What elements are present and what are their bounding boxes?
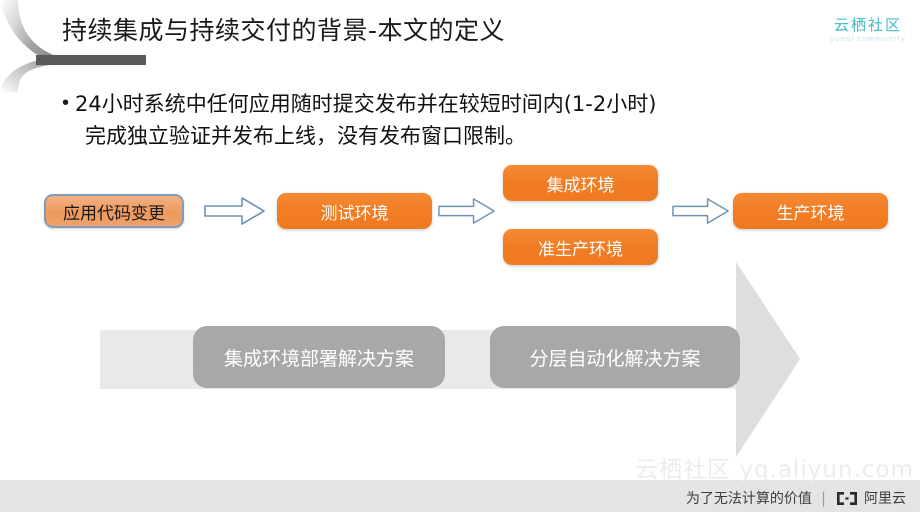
bullet-line-2: 完成独立验证并发布上线，没有发布窗口限制。 [75, 120, 656, 152]
pipeline-stage-test-env[interactable]: 测试环境 [277, 193, 432, 229]
brand-logo-name: 云栖社区 [830, 18, 906, 33]
bullet-text: 24小时系统中任何应用随时提交发布并在较短时间内(1-2小时) 完成独立验证并发… [75, 88, 656, 152]
solution-box-layered-automation[interactable]: 分层自动化解决方案 [490, 326, 740, 388]
pipeline-stage-label: 应用代码变更 [63, 199, 165, 224]
footer-divider: | [821, 489, 826, 507]
footer-slogan: 为了无法计算的价值 [686, 488, 812, 508]
arrow-right-icon-1 [204, 196, 266, 226]
footer-watermark: 云栖社区 yq.aliyun.com [635, 450, 914, 484]
pipeline-stage-app-code-change[interactable]: 应用代码变更 [44, 194, 184, 228]
slide-canvas: 持续集成与持续交付的背景-本文的定义 云栖社区 yunqi community … [0, 0, 920, 512]
pipeline-stage-label: 测试环境 [321, 199, 389, 224]
pipeline-stage-label: 生产环境 [777, 199, 845, 224]
aliyun-bracket-icon [835, 491, 859, 506]
bullet-marker: • [62, 88, 69, 118]
footer-content: 为了无法计算的价值 | 阿里云 [686, 488, 906, 508]
bullet-block: • 24小时系统中任何应用随时提交发布并在较短时间内(1-2小时) 完成独立验证… [62, 88, 862, 152]
solution-box-integration-deploy[interactable]: 集成环境部署解决方案 [193, 326, 445, 388]
brand-logo: 云栖社区 yunqi community [830, 18, 906, 43]
solution-box-label: 分层自动化解决方案 [529, 344, 700, 371]
title-underline-bar [36, 55, 146, 65]
pipeline-stage-integration-env[interactable]: 集成环境 [503, 165, 658, 201]
pipeline-stage-label: 准生产环境 [538, 235, 623, 260]
bullet-line-1: 24小时系统中任何应用随时提交发布并在较短时间内(1-2小时) [75, 92, 656, 116]
pipeline-stage-production-env[interactable]: 生产环境 [733, 193, 888, 229]
arrow-right-icon-2 [438, 196, 496, 226]
aliyun-company-name: 阿里云 [864, 488, 906, 508]
brand-logo-subtitle: yunqi community [830, 36, 906, 43]
aliyun-logo: 阿里云 [835, 488, 906, 508]
page-title: 持续集成与持续交付的背景-本文的定义 [62, 14, 505, 48]
solution-box-label: 集成环境部署解决方案 [224, 344, 414, 371]
arrow-right-icon-3 [672, 196, 730, 226]
pipeline-stage-label: 集成环境 [547, 171, 615, 196]
pipeline-stage-pre-production-env[interactable]: 准生产环境 [503, 229, 658, 265]
